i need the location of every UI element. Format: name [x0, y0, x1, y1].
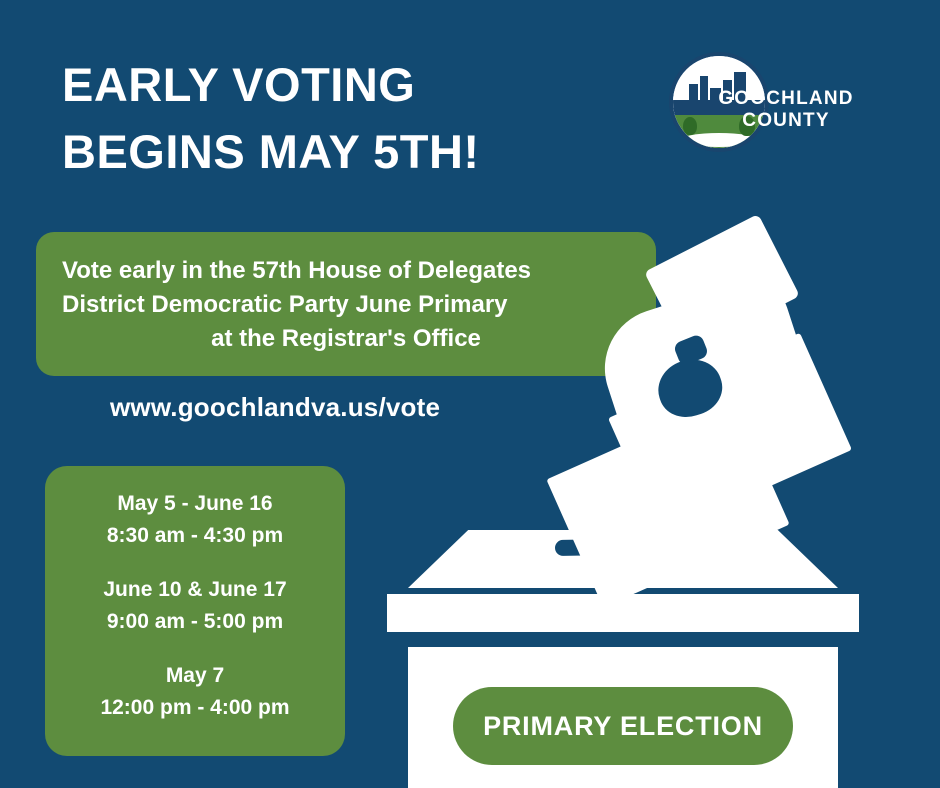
schedule-dates: May 5 - June 16	[45, 488, 345, 520]
schedule-hours: 8:30 am - 4:30 pm	[45, 520, 345, 552]
primary-election-label: PRIMARY ELECTION	[453, 687, 793, 765]
schedule-dates: June 10 & June 17	[45, 574, 345, 606]
schedule-hours: 12:00 pm - 4:00 pm	[45, 692, 345, 724]
headline-line-2: BEGINS MAY 5TH!	[62, 119, 622, 186]
schedule-group: June 10 & June 17 9:00 am - 5:00 pm	[45, 574, 345, 638]
ballot-box-with-hand-icon: PRIMARY ELECTION	[370, 210, 940, 788]
county-logo: GOOCHLAND COUNTY	[645, 52, 885, 152]
schedule-hours: 9:00 am - 5:00 pm	[45, 606, 345, 638]
ballot-box-lip	[387, 594, 859, 632]
schedule-box: May 5 - June 16 8:30 am - 4:30 pm June 1…	[45, 466, 345, 756]
county-logo-text: GOOCHLAND COUNTY	[645, 88, 885, 132]
schedule-dates: May 7	[45, 660, 345, 692]
schedule-group: May 5 - June 16 8:30 am - 4:30 pm	[45, 488, 345, 552]
page-title: EARLY VOTING BEGINS MAY 5TH!	[62, 52, 622, 185]
headline-line-1: EARLY VOTING	[62, 52, 622, 119]
poster-canvas: EARLY VOTING BEGINS MAY 5TH! GOOCHLAND C…	[0, 0, 940, 788]
schedule-group: May 7 12:00 pm - 4:00 pm	[45, 660, 345, 724]
